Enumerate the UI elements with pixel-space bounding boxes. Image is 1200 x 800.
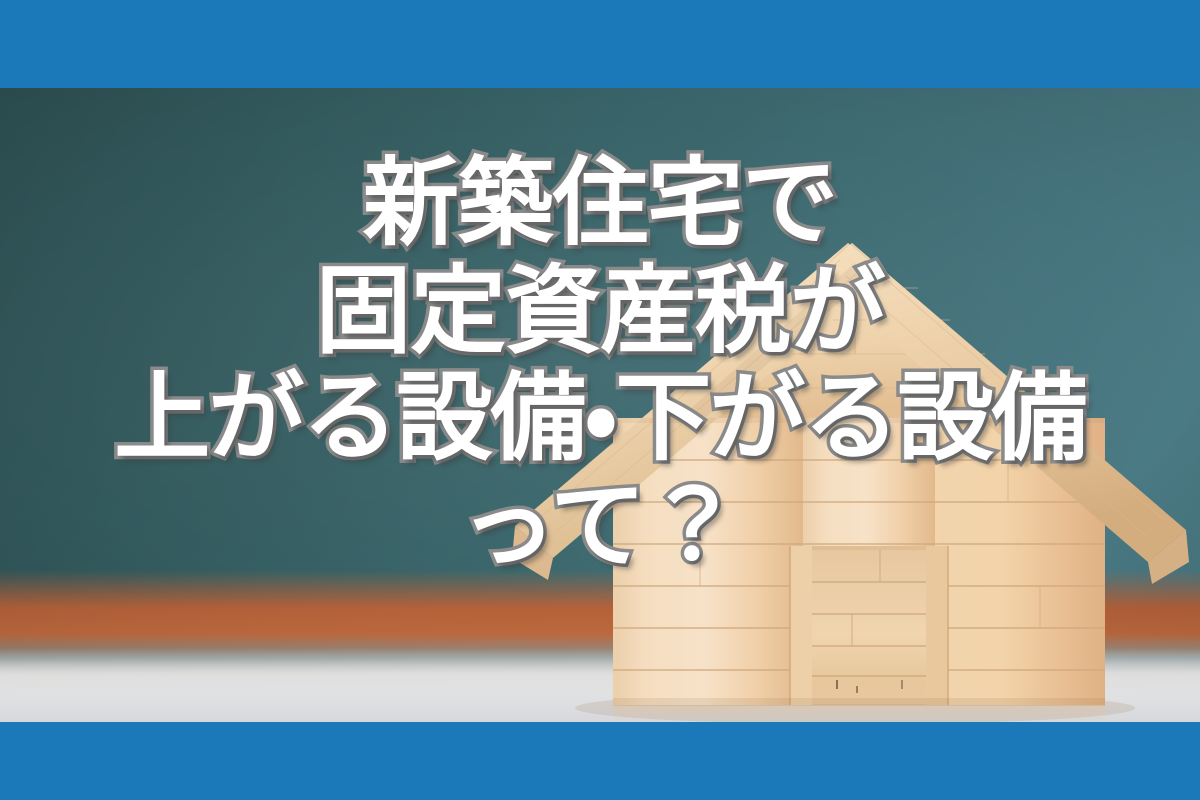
top-accent-bar: [0, 0, 1200, 88]
bottom-accent-bar: [0, 722, 1200, 800]
background-photo: [0, 88, 1200, 722]
thumbnail-canvas: 新築住宅で 固定資産税が 上がる設備・下がる設備 って？: [0, 0, 1200, 800]
wooden-block-house: [0, 88, 1200, 722]
house-door-opening: [806, 546, 932, 705]
